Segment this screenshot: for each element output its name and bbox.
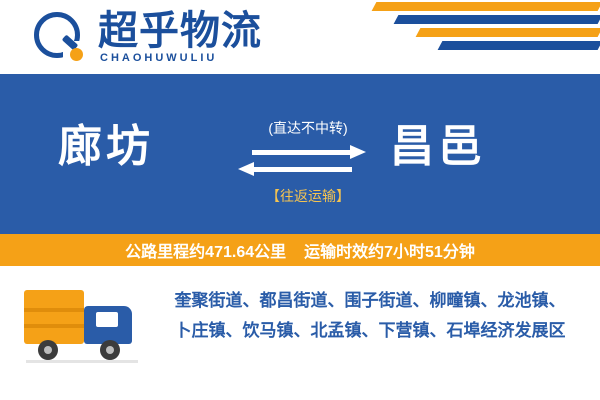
arrow-right-icon bbox=[238, 144, 366, 158]
destination-city: 昌邑 bbox=[390, 122, 486, 172]
header: 超乎物流 CHAOHUWULIU bbox=[0, 0, 600, 74]
header-stripe-3 bbox=[416, 28, 600, 37]
logo-dot bbox=[70, 48, 83, 61]
truck-ground-line bbox=[26, 360, 138, 363]
truck-cargo-box bbox=[24, 290, 84, 344]
arrow-right-head bbox=[350, 145, 366, 159]
truck-box-line-2 bbox=[24, 324, 84, 328]
truck-box-line-1 bbox=[24, 308, 84, 312]
destination-list: 奎聚街道、都昌街道、围子街道、柳疃镇、龙池镇、 卜庄镇、饮马镇、北孟镇、下营镇、… bbox=[160, 286, 580, 346]
brand-name-cn: 超乎物流 bbox=[98, 9, 262, 53]
truck-wheel-rear bbox=[38, 340, 58, 360]
destination-line-2: 卜庄镇、饮马镇、北孟镇、下营镇、石埠经济发展区 bbox=[160, 316, 580, 346]
delivery-truck-icon bbox=[24, 284, 154, 366]
truck-window bbox=[96, 312, 118, 327]
brand-name-en: CHAOHUWULIU bbox=[100, 52, 217, 64]
arrow-left-icon bbox=[238, 162, 366, 176]
logistics-route-poster: 超乎物流 CHAOHUWULIU 廊坊 昌邑 (直达不中转) 【往返运输】 公路… bbox=[0, 0, 600, 400]
origin-city: 廊坊 bbox=[58, 122, 154, 172]
header-stripe-1 bbox=[372, 2, 600, 11]
double-arrow-icon bbox=[232, 143, 372, 179]
info-band: 公路里程约471.64公里 运输时效约7小时51分钟 bbox=[0, 234, 600, 266]
arrow-right-shaft bbox=[252, 150, 356, 155]
destination-line-1: 奎聚街道、都昌街道、围子街道、柳疃镇、龙池镇、 bbox=[160, 286, 580, 316]
destination-section: 奎聚街道、都昌街道、围子街道、柳疃镇、龙池镇、 卜庄镇、饮马镇、北孟镇、下营镇、… bbox=[0, 266, 600, 400]
direct-route-note: (直达不中转) bbox=[248, 118, 368, 138]
header-stripe-2 bbox=[394, 15, 600, 24]
truck-wheel-front bbox=[100, 340, 120, 360]
arrow-left-head bbox=[238, 162, 254, 176]
circle-q-logo-icon bbox=[34, 12, 88, 66]
arrow-left-shaft bbox=[248, 167, 352, 172]
header-stripe-4 bbox=[438, 41, 600, 50]
duration-text: 运输时效约7小时51分钟 bbox=[304, 238, 475, 262]
round-trip-note: 【往返运输】 bbox=[238, 186, 378, 206]
distance-text: 公路里程约471.64公里 bbox=[125, 238, 286, 262]
header-stripes bbox=[368, 0, 600, 58]
